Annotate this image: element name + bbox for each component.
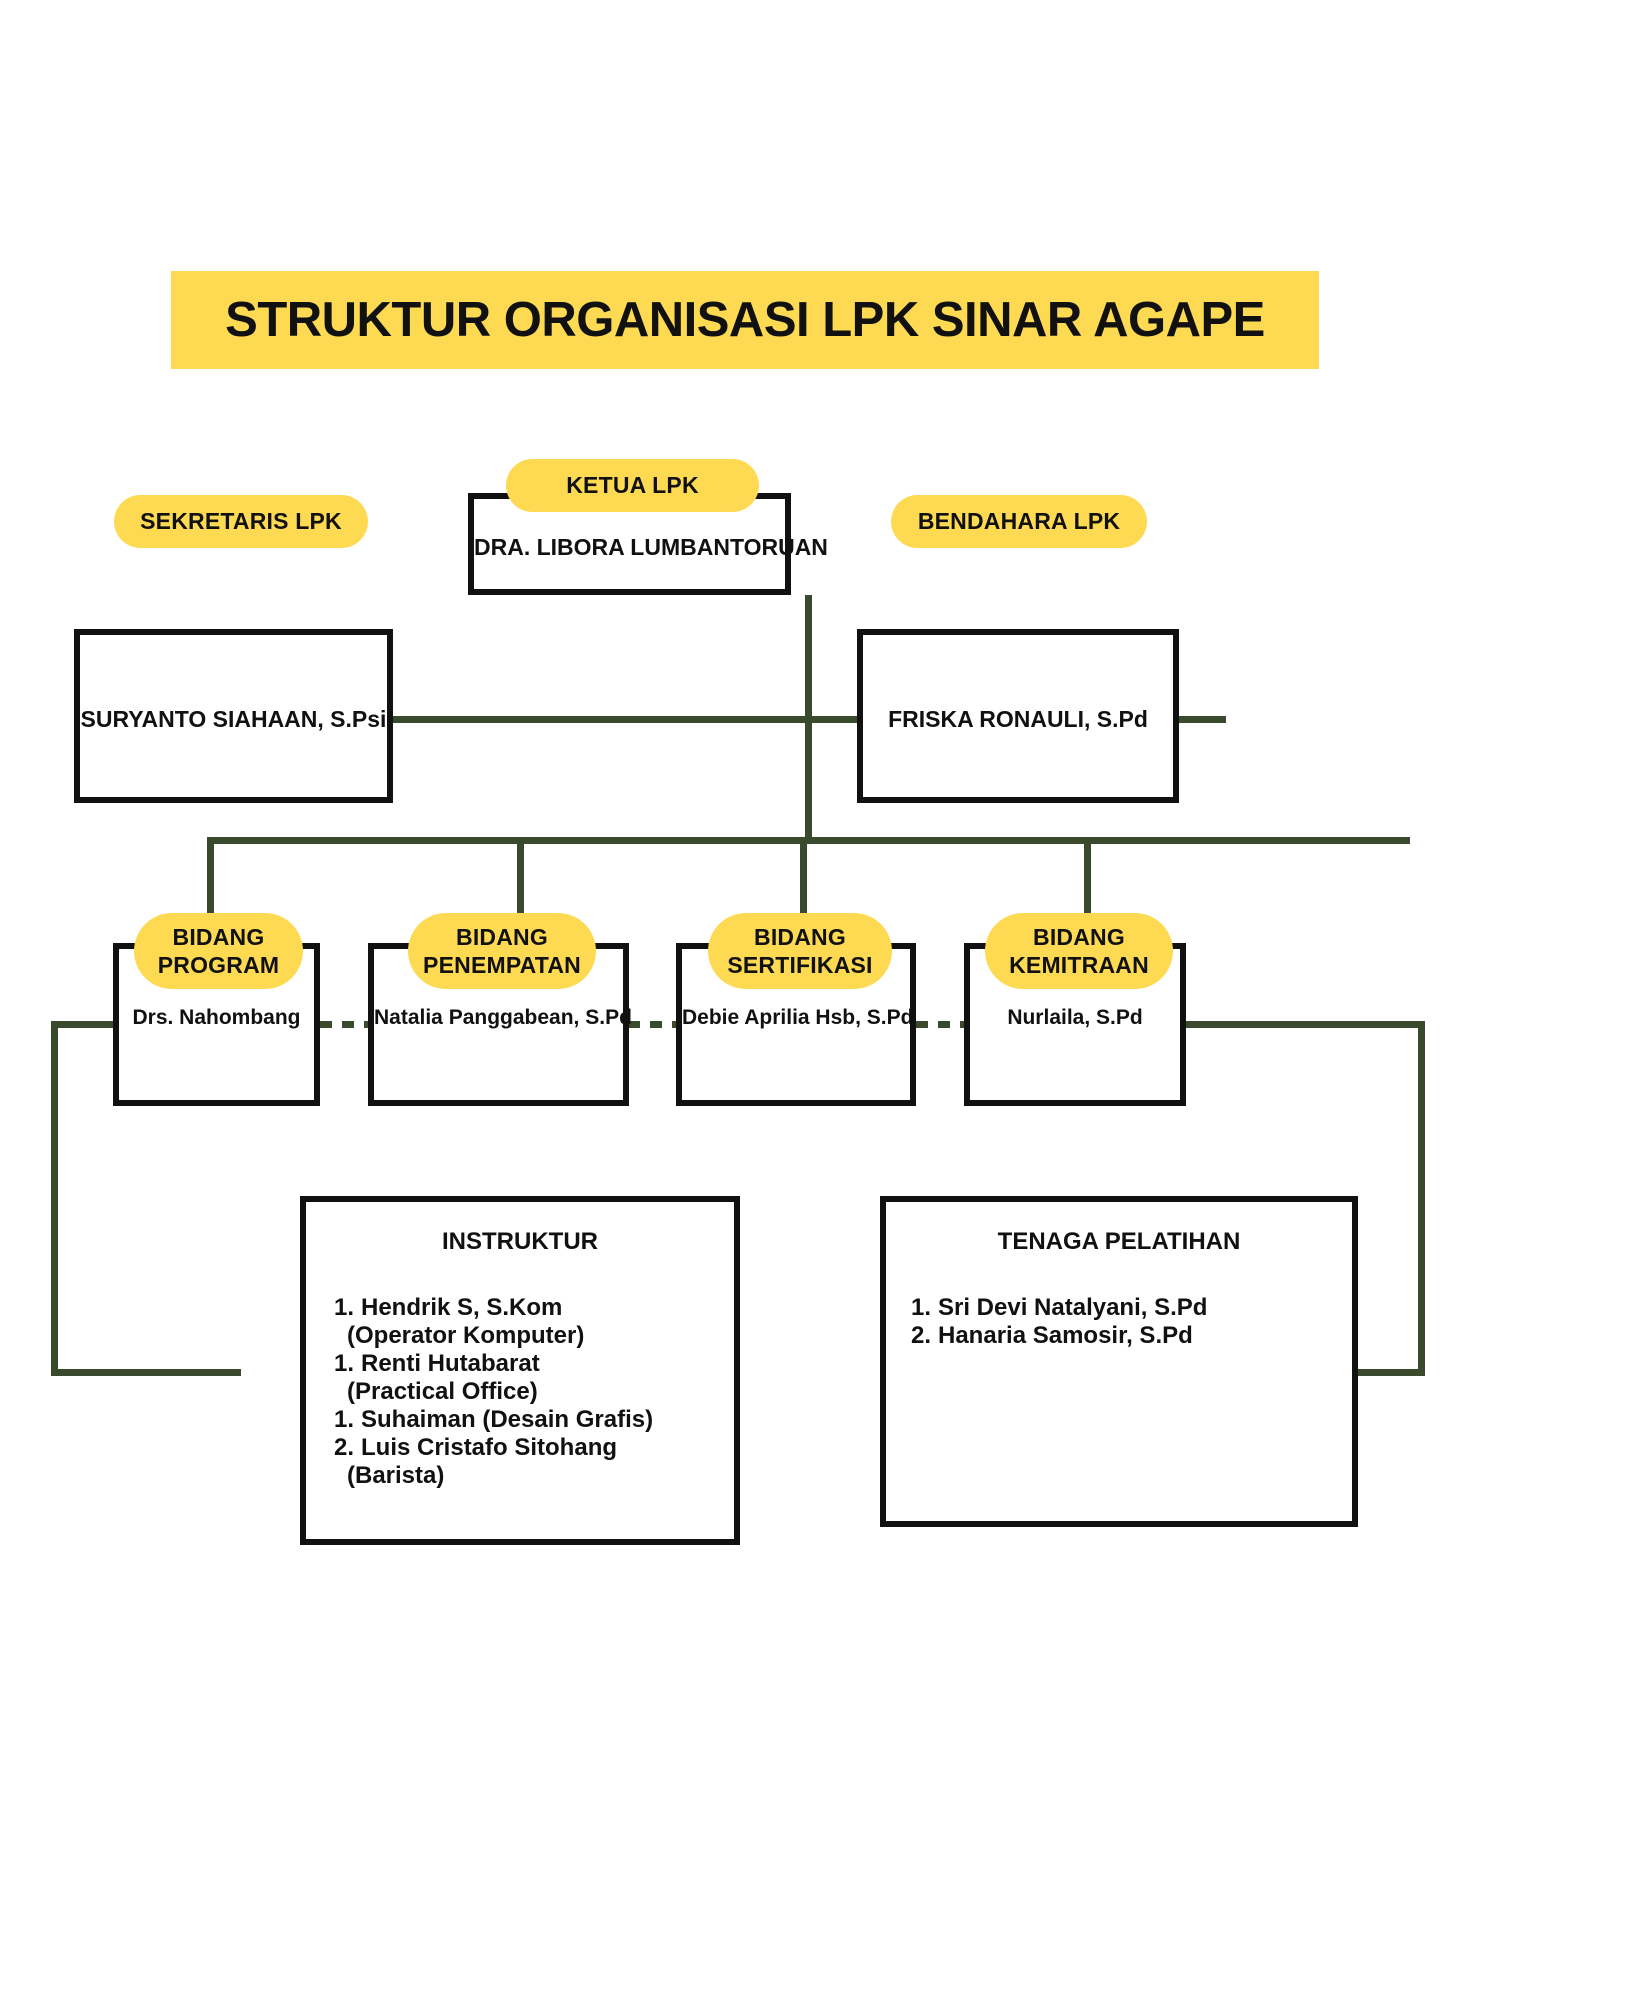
connector-left-wrap-vertical xyxy=(51,1021,58,1376)
tenaga-pelatihan-list: 1. Sri Devi Natalyani, S.Pd 2. Hanaria S… xyxy=(886,1294,1352,1350)
tenaga-item-2-num: 2. xyxy=(911,1322,938,1350)
bidang-sertifikasi-person: Debie Aprilia Hsb, S.Pd xyxy=(682,1006,910,1030)
bidang-penempatan-label-2: PENEMPATAN xyxy=(423,951,581,979)
list-item: 2. Hanaria Samosir, S.Pd xyxy=(911,1322,1352,1350)
list-item-sub: (Operator Komputer) xyxy=(334,1322,734,1350)
connector-left-wrap-horizontal-bottom xyxy=(51,1369,241,1376)
sekretaris-person: SURYANTO SIAHAAN, S.Psi xyxy=(80,706,387,733)
instruktur-item-2-name: Renti Hutabarat xyxy=(361,1350,734,1378)
ketua-label: KETUA LPK xyxy=(566,471,699,499)
list-item-sub: (Practical Office) xyxy=(334,1378,734,1406)
bidang-sertifikasi-label-1: BIDANG xyxy=(754,923,846,951)
tenaga-item-2-name: Hanaria Samosir, S.Pd xyxy=(938,1322,1352,1350)
instruktur-item-2-sub: (Practical Office) xyxy=(334,1378,538,1406)
bidang-kemitraan-person: Nurlaila, S.Pd xyxy=(970,1006,1180,1030)
bendahara-person: FRISKA RONAULI, S.Pd xyxy=(863,706,1173,733)
connector-right-wrap-vertical xyxy=(1418,1021,1425,1376)
list-item: 1. Renti Hutabarat xyxy=(334,1350,734,1378)
tenaga-item-1-num: 1. xyxy=(911,1294,938,1322)
bidang-program-label-1: BIDANG xyxy=(173,923,265,951)
bidang-kemitraan-label-1: BIDANG xyxy=(1033,923,1125,951)
list-item: 1. Hendrik S, S.Kom xyxy=(334,1294,734,1322)
page-title: STRUKTUR ORGANISASI LPK SINAR AGAPE xyxy=(225,292,1265,348)
instruktur-item-3-num: 1. xyxy=(334,1406,361,1434)
list-item: 2. Luis Cristafo Sitohang xyxy=(334,1434,734,1462)
bendahara-label: BENDAHARA LPK xyxy=(918,507,1120,535)
node-instruktur[interactable]: INSTRUKTUR 1. Hendrik S, S.Kom (Operator… xyxy=(300,1196,740,1545)
pill-sekretaris-lpk: SEKRETARIS LPK xyxy=(114,495,368,548)
pill-bidang-penempatan: BIDANG PENEMPATAN xyxy=(408,913,596,989)
chart-title-banner: STRUKTUR ORGANISASI LPK SINAR AGAPE xyxy=(171,271,1319,369)
pill-ketua-lpk: KETUA LPK xyxy=(506,459,759,512)
node-sekretaris-lpk[interactable]: SURYANTO SIAHAAN, S.Psi xyxy=(74,629,393,803)
connector-right-wrap-horizontal-top xyxy=(1185,1021,1425,1028)
instruktur-item-1-sub: (Operator Komputer) xyxy=(334,1322,584,1350)
bidang-penempatan-label-1: BIDANG xyxy=(456,923,548,951)
bidang-program-person: Drs. Nahombang xyxy=(119,1006,314,1030)
connector-dotted-bidang-1-2 xyxy=(320,1021,368,1028)
connector-bidang-bus xyxy=(207,837,1410,844)
pill-bidang-program: BIDANG PROGRAM xyxy=(134,913,303,989)
list-item-sub: (Barista) xyxy=(334,1462,734,1490)
tenaga-item-1-name: Sri Devi Natalyani, S.Pd xyxy=(938,1294,1352,1322)
instruktur-item-2-num: 1. xyxy=(334,1350,361,1378)
instruktur-item-4-name: Luis Cristafo Sitohang xyxy=(361,1434,734,1462)
pill-bendahara-lpk: BENDAHARA LPK xyxy=(891,495,1147,548)
bidang-penempatan-person: Natalia Panggabean, S.Pd xyxy=(374,1006,623,1030)
instruktur-item-4-num: 2. xyxy=(334,1434,361,1462)
tenaga-pelatihan-title: TENAGA PELATIHAN xyxy=(886,1228,1352,1256)
ketua-person: DRA. LIBORA LUMBANTORUAN xyxy=(474,534,785,561)
instruktur-item-1-name: Hendrik S, S.Kom xyxy=(361,1294,734,1322)
instruktur-list: 1. Hendrik S, S.Kom (Operator Komputer) … xyxy=(306,1294,734,1491)
connector-left-wrap-horizontal-top xyxy=(51,1021,113,1028)
sekretaris-label: SEKRETARIS LPK xyxy=(140,507,342,535)
list-item: 1. Suhaiman (Desain Grafis) xyxy=(334,1406,734,1434)
bidang-kemitraan-label-2: KEMITRAAN xyxy=(1009,951,1149,979)
pill-bidang-sertifikasi: BIDANG SERTIFIKASI xyxy=(708,913,892,989)
pill-bidang-kemitraan: BIDANG KEMITRAAN xyxy=(985,913,1173,989)
instruktur-item-4-sub: (Barista) xyxy=(334,1462,444,1490)
connector-dotted-bidang-2-3 xyxy=(628,1021,676,1028)
node-bendahara-lpk[interactable]: FRISKA RONAULI, S.Pd xyxy=(857,629,1179,803)
bidang-program-label-2: PROGRAM xyxy=(158,951,280,979)
instruktur-title: INSTRUKTUR xyxy=(306,1228,734,1256)
instruktur-item-3-name: Suhaiman (Desain Grafis) xyxy=(361,1406,734,1434)
list-item: 1. Sri Devi Natalyani, S.Pd xyxy=(911,1294,1352,1322)
org-chart-canvas: STRUKTUR ORGANISASI LPK SINAR AGAPE DRA.… xyxy=(0,0,1641,2000)
instruktur-item-1-num: 1. xyxy=(334,1294,361,1322)
connector-dotted-bidang-3-4 xyxy=(916,1021,964,1028)
node-tenaga-pelatihan[interactable]: TENAGA PELATIHAN 1. Sri Devi Natalyani, … xyxy=(880,1196,1358,1527)
bidang-sertifikasi-label-2: SERTIFIKASI xyxy=(727,951,872,979)
